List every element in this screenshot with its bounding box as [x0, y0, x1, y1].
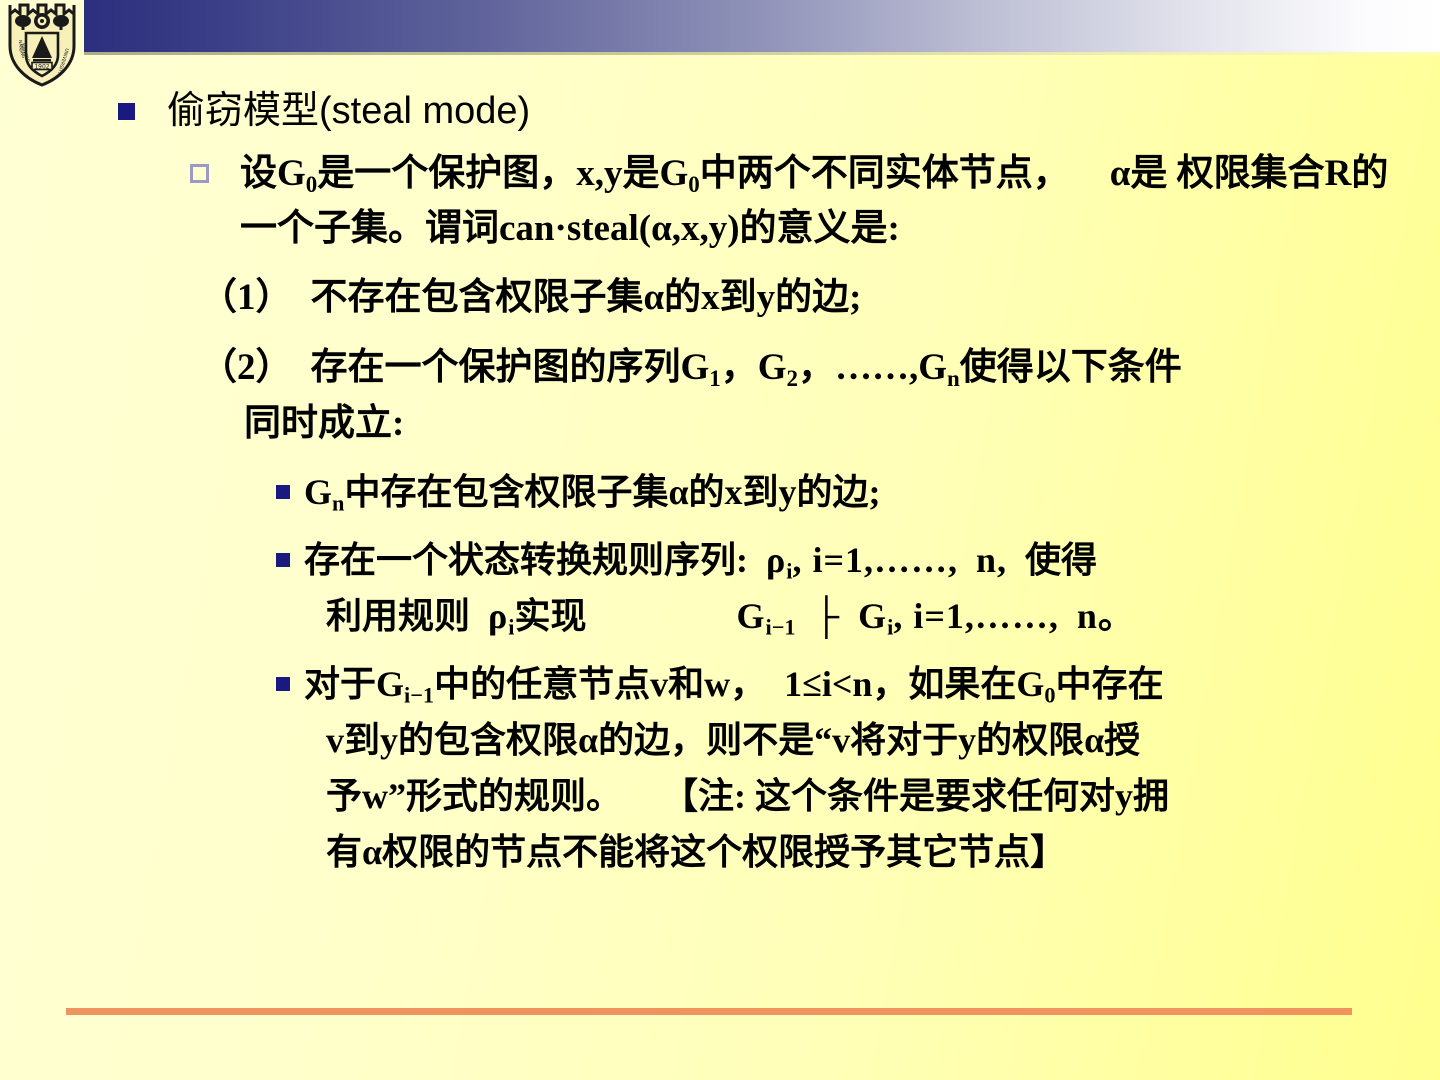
- item1-label: （1）: [200, 277, 293, 318]
- bullet-square-filled-icon: [118, 103, 135, 120]
- slide-content: 偷窃模型(steal mode) 设G0是一个保护图，x,y是G0中两个不同实体…: [0, 78, 1440, 880]
- item2-sub-1: 1: [709, 366, 720, 391]
- def-sub-0b: 0: [688, 172, 699, 197]
- cond2-f: 利用规则: [326, 596, 470, 636]
- cond2-g: ρ: [488, 596, 508, 636]
- cond2-rho: ρ: [766, 540, 786, 580]
- cond3-c-sub: 0: [1044, 683, 1055, 708]
- cond1-a: G: [304, 472, 332, 512]
- cond1-b: 中存在包含权限子集α的x到y的边;: [344, 472, 880, 512]
- bottom-divider-rule: [66, 1008, 1352, 1015]
- condition-3-line2: v到y的包含权限α的边，则不是“v将对于y的权限α授: [304, 712, 1169, 768]
- def-part-d: α是: [1110, 153, 1168, 194]
- condition-1-text: Gn中存在包含权限子集α的x到y的边;: [304, 464, 881, 520]
- cond2-j: G: [858, 596, 887, 636]
- condition-2-line2: 利用规则ρi实现Gi−1├Gi, i=1,……,n。: [304, 588, 1135, 644]
- def-part-b: 是一个保护图，x,y是G: [317, 153, 688, 194]
- bullet-square-hollow-icon: [190, 164, 209, 183]
- def-part-c: 中两个不同实体节点，: [700, 153, 1070, 194]
- cond2-i: G: [737, 596, 766, 636]
- cond3-a-sub: i−1: [404, 683, 434, 708]
- item2-sub-n: n: [947, 366, 960, 391]
- item2-text-d: 使得以下条件: [960, 347, 1182, 388]
- cond2-h: 实现: [514, 596, 586, 636]
- cond3-a: 对于G: [304, 664, 404, 704]
- cond3-line3-a: 予w”形式的规则。: [326, 776, 622, 816]
- cond3-d: 中存在: [1056, 664, 1164, 704]
- cond2-e: 使得: [1025, 540, 1097, 580]
- level2-definition-text: 设G0是一个保护图，x,y是G0中两个不同实体节点，α是 权限集合R的一个子集。…: [240, 146, 1405, 256]
- bullet-level3-condition-3: 对于Gi−1中的任意节点v和w，1≤i<n，如果在G0中存在 v到y的包含权限α…: [276, 656, 1416, 880]
- nanjing-university-crest-logo: 1902 NANJING NANJING UNIVERSITY: [6, 2, 78, 88]
- numbered-item-2: （2）存在一个保护图的序列G1，G2，……,Gn使得以下条件 同时成立:: [200, 340, 1400, 452]
- cond1-sub: n: [332, 491, 344, 516]
- cond2-i-sub: i−1: [766, 615, 796, 640]
- numbered-item-1: （1）不存在包含权限子集α的x到y的边;: [200, 270, 1400, 326]
- condition-3-text: 对于Gi−1中的任意节点v和w，1≤i<n，如果在G0中存在 v到y的包含权限α…: [304, 656, 1169, 880]
- cond2-l: n。: [1077, 596, 1135, 636]
- crest-year: 1902: [34, 64, 49, 71]
- header-underline: [84, 52, 1440, 55]
- cond2-turnstile-icon: ├: [814, 596, 841, 636]
- item2-text-b: ，G: [721, 347, 787, 388]
- bullet-level3-condition-2: 存在一个状态转换规则序列:ρi, i=1,……,n,使得 利用规则ρi实现Gi−…: [276, 532, 1416, 644]
- cond3-line3-b: 【注: 这个条件是要求任何对y拥: [662, 776, 1169, 816]
- header-gradient-band: [84, 0, 1440, 52]
- def-part-a: 设G: [240, 153, 306, 194]
- item2-continuation: 同时成立:: [200, 396, 1400, 452]
- item1-text: 不存在包含权限子集α的x到y的边;: [311, 277, 862, 318]
- bullet-square-small-icon: [276, 485, 290, 499]
- bullet-level3-condition-1: Gn中存在包含权限子集α的x到y的边;: [276, 464, 1416, 520]
- item2-sub-2: 2: [787, 366, 798, 391]
- bullet-square-small-icon: [276, 553, 290, 567]
- bullet-level1-steal-mode: 偷窃模型(steal mode): [118, 86, 1440, 136]
- item2-label: （2）: [200, 347, 293, 388]
- condition-3-line4: 有α权限的节点不能将这个权限授予其它节点】: [304, 824, 1169, 880]
- cond2-c: , i=1,……,: [792, 540, 958, 580]
- cond2-k: , i=1,……,: [893, 596, 1059, 636]
- bullet-level2-definition: 设G0是一个保护图，x,y是G0中两个不同实体节点，α是 权限集合R的一个子集。…: [190, 146, 1405, 256]
- cond2-d: n,: [976, 540, 1007, 580]
- def-sub-0a: 0: [306, 172, 317, 197]
- bullet-square-small-icon: [276, 677, 290, 691]
- condition-3-line3: 予w”形式的规则。【注: 这个条件是要求任何对y拥: [304, 768, 1169, 824]
- cond3-c: 1≤i<n，如果在G: [784, 664, 1044, 704]
- item2-text-a: 存在一个保护图的序列G: [311, 347, 710, 388]
- condition-2-text: 存在一个状态转换规则序列:ρi, i=1,……,n,使得 利用规则ρi实现Gi−…: [304, 532, 1135, 644]
- level1-title-text: 偷窃模型(steal mode): [167, 86, 530, 136]
- slide-canvas: 1902 NANJING NANJING UNIVERSITY 偷窃模型(ste…: [0, 0, 1440, 1080]
- item2-text-c: ，……,G: [798, 347, 947, 388]
- cond2-a: 存在一个状态转换规则序列:: [304, 540, 748, 580]
- cond3-b: 中的任意节点v和w，: [434, 664, 766, 704]
